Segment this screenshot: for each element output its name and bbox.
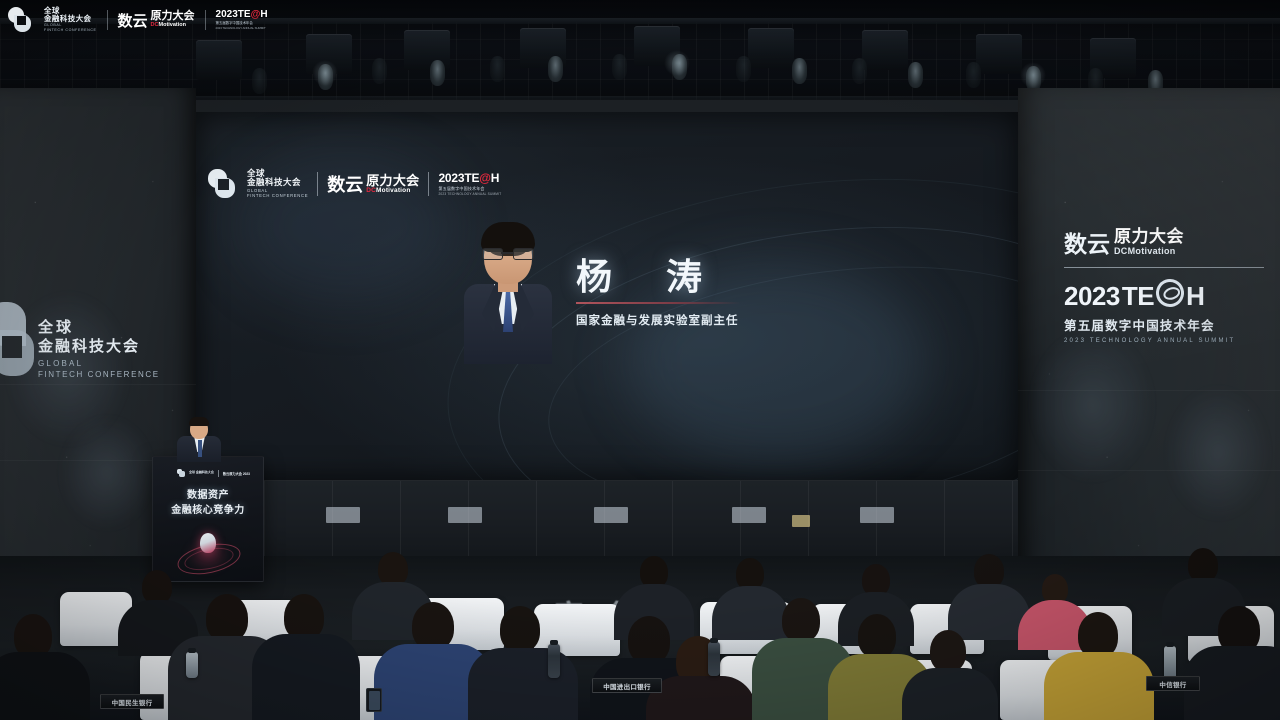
lamp-halo [312,60,338,86]
audience-head [974,554,1004,588]
right-wall-brand-en: DCMotivation [1114,247,1184,256]
water-bottle [1164,646,1176,680]
screen-gfc-en-line2: FINTECH CONFERENCE [247,194,308,198]
watermark-divider [107,10,108,30]
fintech-logo-icon [8,7,34,33]
screen-speaker-title: 国家金融与发展实验室副主任 [576,312,739,328]
screen-gfc-en-line1: GLOBAL [247,189,308,193]
led-panel-lit-amber [792,515,810,527]
delegate-name-card: 中国进出口银行 [592,678,662,693]
right-wall-year: 2023 [1064,281,1120,312]
podium-title-line1: 数据资产 [153,489,263,504]
watermark-dc-logo: 数云 原力大会 DCMotivation [118,11,195,29]
smartphone [366,688,382,712]
left-wall-en-line1: GLOBAL [38,360,160,369]
led-panel-lit [732,507,766,523]
watermark-tech-sub-en: 2023 TECHNOLOGY ANNUAL SUMMIT [216,27,268,30]
at-circle-icon [1152,275,1187,310]
water-bottle [708,642,720,676]
left-wall-signage: 全球 金融科技大会 GLOBAL FINTECH CONFERENCE [38,320,160,380]
stage-light-fixture [976,34,1022,74]
screen-name-divider [576,302,740,304]
right-wall-brand-cn: 数云 [1064,233,1110,256]
led-panel-lit [448,507,482,523]
watermark-gfc-cn-line2: 金融科技大会 [44,15,97,23]
audience-head [378,552,408,586]
audience-shoulders [0,652,90,720]
spotlight-lamp [908,62,923,88]
water-bottle [548,644,560,678]
audience-shoulders [1044,652,1154,720]
screen-tech-sub-en: 2023 TECHNOLOGY ANNUAL SUMMIT [438,193,501,196]
spotlight-lamp [252,68,267,94]
watermark-dc-cn: 数云 [118,14,148,29]
logo-divider [317,172,318,196]
screen-logo-lockup: 全球 金融科技大会 GLOBAL FINTECH CONFERENCE 数云 原… [208,166,508,202]
screen-dc-cn: 数云 [327,176,363,194]
spotlight-lamp [736,56,751,82]
audience-shoulders [252,634,360,720]
wall-nebula-graphic [1032,330,1152,480]
watermark-dc-sub-red: DC [151,22,159,28]
watermark-tech-year: 2023 [216,9,238,20]
right-wall-signage: 数云 原力大会 DCMotivation 2023 TE H 第五届数字中国技术… [1064,228,1264,344]
delegate-name-card: 中信银行 [1146,676,1200,691]
screen-tech-year: 2023 [438,171,464,185]
podium-logo-gfc: 全球 金融科技大会 [189,471,214,474]
spotlight-lamp [612,54,627,80]
audience-head [206,594,248,642]
watermark-dc-sub-white: Motivation [159,22,187,28]
audience-area [0,560,1280,720]
delegate-name-card: 中国民生银行 [100,694,164,709]
spotlight-lamp [966,62,981,88]
watermark-tech-logo: 2023TE@H 第五届数字中国技术年会 2023 TECHNOLOGY ANN… [216,10,268,30]
screen-dc-sub-red: DC [366,187,376,194]
audience-shoulders [712,586,790,640]
audience-head [930,630,966,672]
screen-gfc-cn-line2: 金融科技大会 [247,178,308,187]
spotlight-lamp [490,56,505,82]
broadcast-watermark: 全球 金融科技大会 GLOBAL FINTECH CONFERENCE 数云 原… [8,5,268,35]
right-wall-tech-a: TE [1122,281,1154,312]
stage-light-fixture [748,28,794,68]
logo-divider [428,172,429,196]
lower-led-strip [196,480,1018,559]
left-wall-cn-line1: 全球 [38,320,160,337]
fintech-logo-icon [177,469,185,477]
water-bottle [186,652,198,678]
screen-gfc-text: 全球 金融科技大会 GLOBAL FINTECH CONFERENCE [247,169,308,199]
screen-dc-sub-white: Motivation [376,187,411,194]
conference-stage-photo: 全球 金融科技大会 GLOBAL FINTECH CONFERENCE 数云 原… [0,0,1280,720]
audience-shoulders [468,648,578,720]
stage-light-fixture [196,40,242,80]
lamp-halo [1020,62,1046,88]
audience-head [412,602,454,650]
right-wall-sub-en: 2023 TECHNOLOGY ANNUAL SUMMIT [1064,338,1264,344]
screen-tech-word: TE [464,171,479,185]
screen-dc-title: 原力大会 [366,174,419,187]
spotlight-lamp [852,58,867,84]
audience-head [628,616,670,664]
audience-head [500,606,540,652]
right-wall-tech-b: H [1186,281,1204,312]
right-wall: 数云 原力大会 DCMotivation 2023 TE H 第五届数字中国技术… [1018,88,1280,608]
wall-nebula-graphic [62,418,152,528]
right-wall-brand-title: 原力大会 [1114,228,1184,245]
podium-logo-row: 全球 金融科技大会 数云原力大会 2023 [177,469,250,477]
watermark-dc-title: 原力大会 [151,11,195,22]
audience-head [782,598,820,642]
led-panel-lit [594,507,628,523]
led-panel-lit [860,507,894,523]
fintech-logo-icon [208,169,238,199]
tech-summit-logo: 2023TE@H 第五届数字中国技术年会 2023 TECHNOLOGY ANN… [438,172,501,196]
dc-logo: 数云 原力大会 DCMotivation [327,174,419,195]
spotlight-lamp [792,58,807,84]
screen-tech-word2: H [491,171,499,185]
stage-light-fixture [862,30,908,70]
audience-head [142,570,172,604]
watermark-tech-word2: H [260,9,267,20]
speaker-portrait-photo [462,222,554,362]
podium-title: 数据资产 金融核心竞争力 [153,489,263,518]
spotlight-lamp [430,60,445,86]
speaker-tie [198,440,202,457]
watermark-divider [205,10,206,30]
screen-speaker-name: 杨 涛 [576,248,724,300]
speaker-hair [189,417,209,426]
audience-head [1188,548,1218,582]
screen-tech-sub-cn: 第五届数字中国技术年会 [438,187,501,191]
spotlight-lamp [372,58,387,84]
audience-head [858,614,896,658]
right-wall-divider [1064,267,1264,268]
watermark-gfc-en-line2: FINTECH CONFERENCE [44,29,97,33]
podium-logo-dc: 数云原力大会 2023 [223,471,250,476]
spotlight-lamp [548,56,563,82]
wall-nebula-graphic [1168,388,1268,518]
audience-shoulders [902,668,998,720]
audience-shoulders [646,676,756,720]
left-wall-en-line2: FINTECH CONFERENCE [38,371,160,380]
left-wall-cn-line2: 金融科技大会 [38,339,160,356]
right-wall-sub-cn: 第五届数字中国技术年会 [1064,315,1264,334]
watermark-tech-word: TE [238,9,251,20]
lamp-halo [664,50,690,76]
watermark-gfc-text: 全球 金融科技大会 GLOBAL FINTECH CONFERENCE [44,7,97,32]
podium-title-line2: 金融核心竞争力 [153,504,263,519]
watermark-tech-sub-cn: 第五届数字中国技术年会 [216,22,268,26]
led-panel-lit [326,507,360,523]
